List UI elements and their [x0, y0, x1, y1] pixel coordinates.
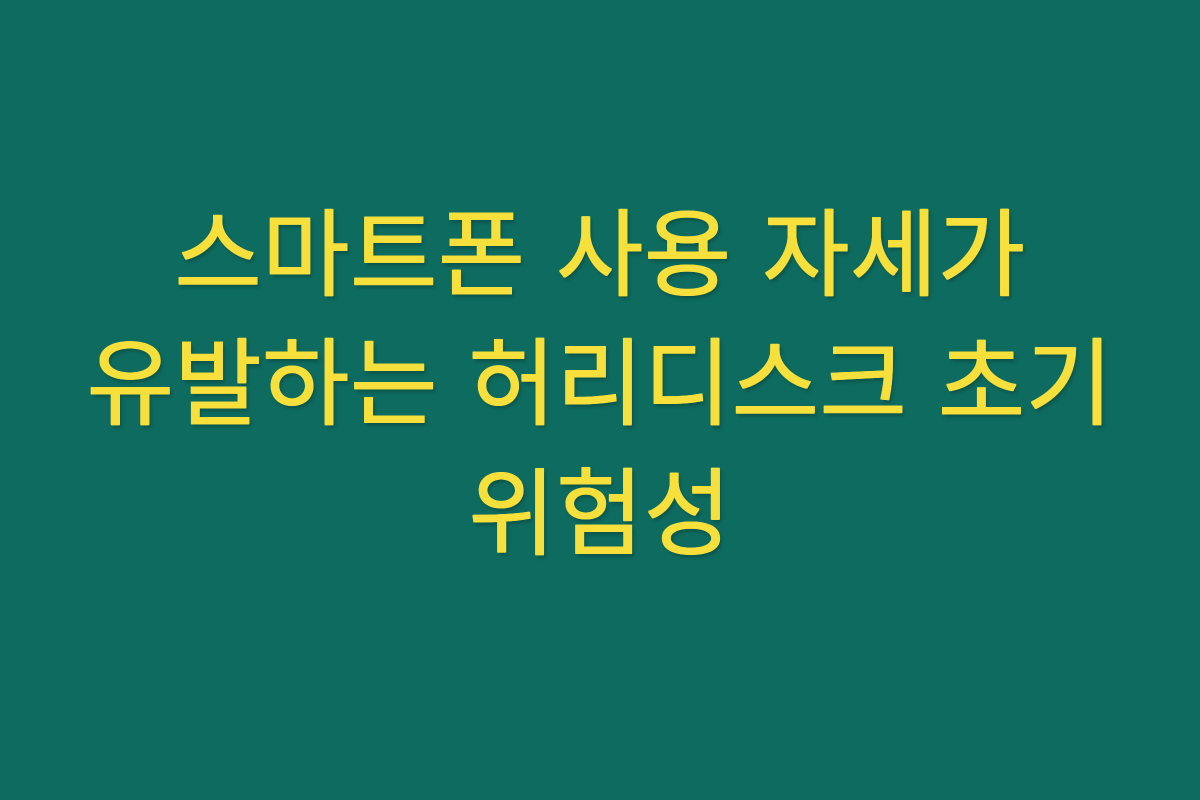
banner-canvas: 스마트폰 사용 자세가 유발하는 허리디스크 초기 위험성 — [0, 0, 1200, 800]
page-title: 스마트폰 사용 자세가 유발하는 허리디스크 초기 위험성 — [78, 192, 1122, 580]
